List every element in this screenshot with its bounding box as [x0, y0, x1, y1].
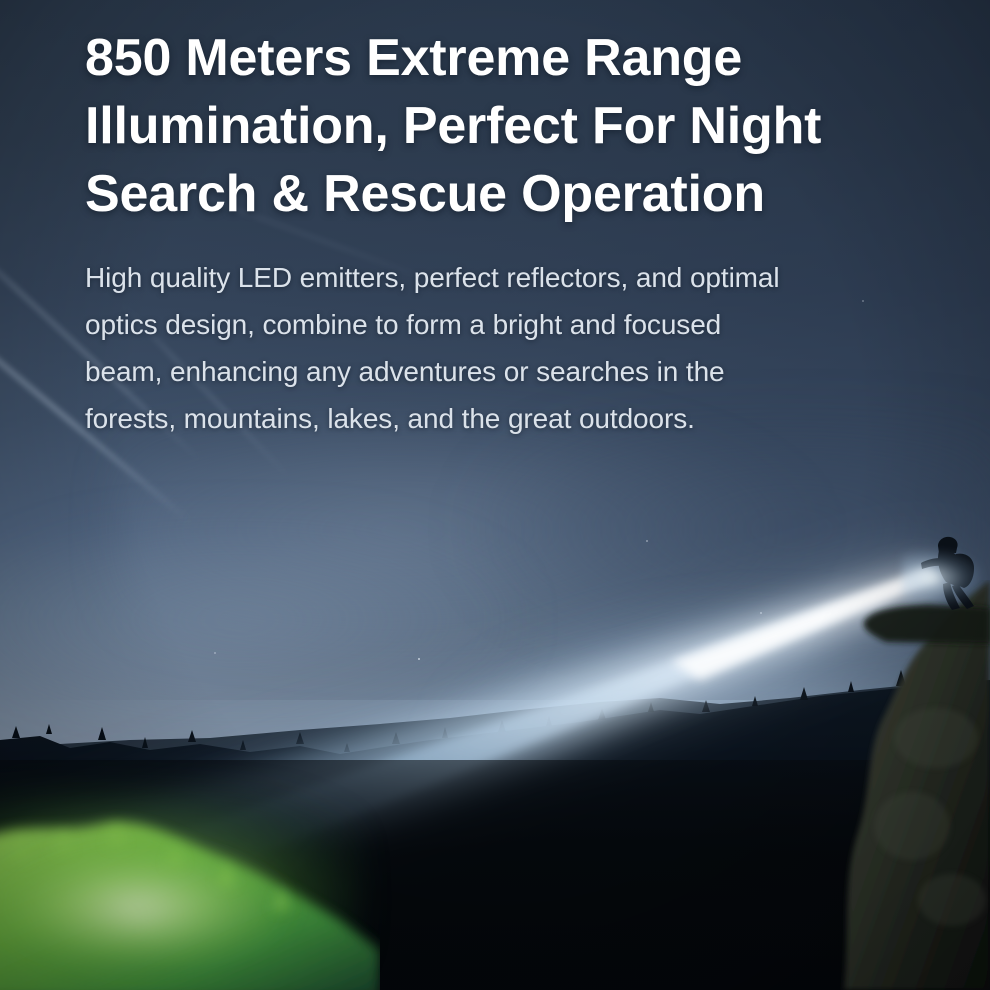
- page-description: High quality LED emitters, perfect refle…: [85, 254, 975, 442]
- flashlight-muzzle-flare: [902, 550, 982, 606]
- page-title: 850 Meters Extreme Range Illumination, P…: [85, 24, 975, 228]
- marketing-copy: 850 Meters Extreme Range Illumination, P…: [85, 24, 975, 442]
- promo-banner: 850 Meters Extreme Range Illumination, P…: [0, 0, 990, 990]
- illuminated-foliage: [0, 800, 380, 990]
- star-icon: [646, 540, 648, 542]
- rock-cliff: [840, 580, 990, 990]
